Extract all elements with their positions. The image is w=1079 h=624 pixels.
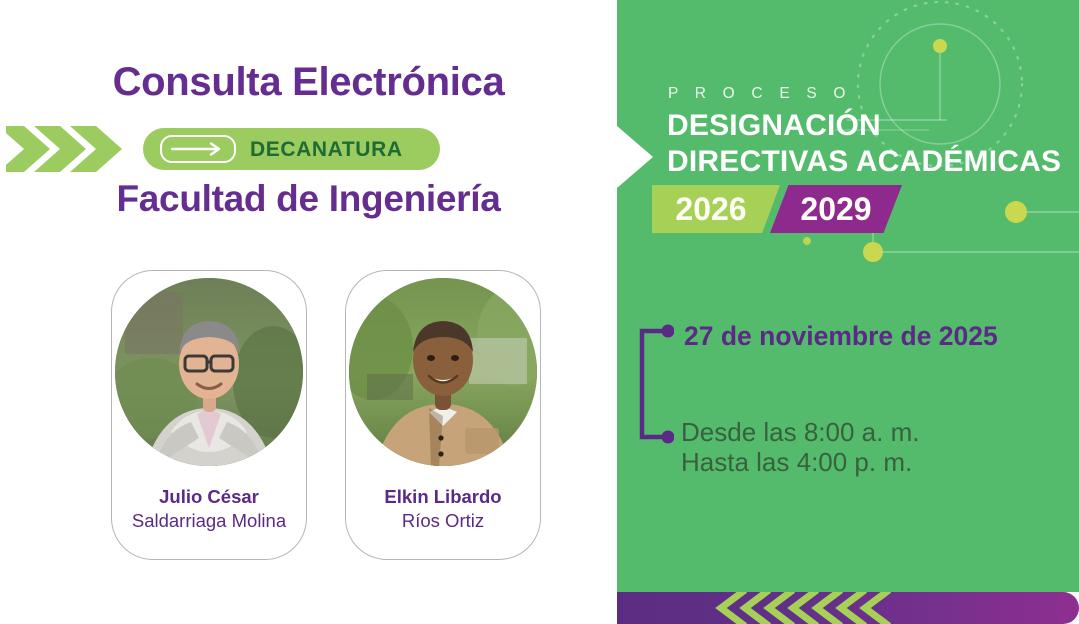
decanatura-label: DECANATURA <box>250 139 403 160</box>
page-subtitle: Facultad de Ingeniería <box>0 180 617 217</box>
bracket-connector-icon <box>634 324 674 444</box>
event-time-from: Desde las 8:00 a. m. <box>681 417 919 447</box>
candidate-surname: Saldarriaga Molina <box>112 511 306 532</box>
poster-root: Consulta Electrónica DECANATURA Facultad… <box>0 0 1079 624</box>
event-time-to: Hasta las 4:00 p. m. <box>681 447 912 477</box>
year-end: 2029 <box>770 185 902 233</box>
event-date: 27 de noviembre de 2025 <box>684 323 998 350</box>
heading-line-1: DESIGNACIÓN <box>667 110 881 142</box>
page-title: Consulta Electrónica <box>0 62 617 102</box>
green-panel: P R O C E S O DESIGNACIÓN DIRECTIVAS ACA… <box>617 0 1079 592</box>
candidate-surname: Ríos Ortiz <box>346 511 540 532</box>
candidate-card[interactable]: Elkin Libardo Ríos Ortiz <box>345 270 541 560</box>
left-panel: Consulta Electrónica DECANATURA Facultad… <box>0 0 617 624</box>
bottom-bar <box>617 592 1079 624</box>
year-start: 2026 <box>652 185 780 233</box>
candidate-card[interactable]: Julio César Saldarriaga Molina <box>111 270 307 560</box>
heading-line-2: DIRECTIVAS ACADÉMICAS <box>667 146 1061 178</box>
candidate-photo <box>115 278 303 466</box>
triangle-right-icon <box>617 126 653 188</box>
candidate-photo <box>349 278 537 466</box>
period-badge: 2026 2029 <box>652 185 902 233</box>
candidate-name: Julio César <box>112 487 306 508</box>
kicker-text: P R O C E S O <box>668 86 852 102</box>
triple-chevron-right-icon <box>6 124 126 174</box>
arrow-right-icon <box>160 135 236 163</box>
chevron-left-pattern <box>617 592 1079 624</box>
decanatura-pill: DECANATURA <box>143 128 440 170</box>
candidate-name: Elkin Libardo <box>346 487 540 508</box>
